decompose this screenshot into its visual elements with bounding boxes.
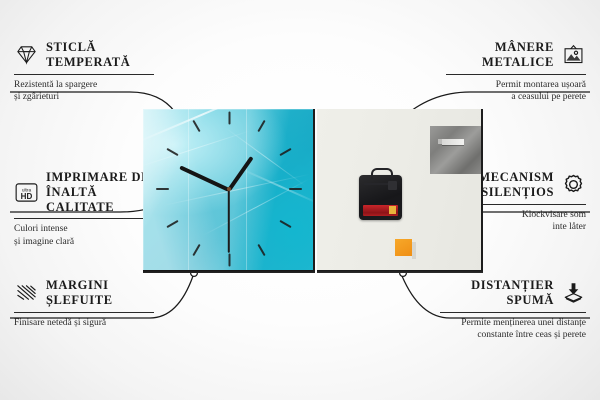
hour-tick: [166, 148, 178, 156]
divider: [14, 74, 154, 75]
clock-front-panel: [143, 109, 315, 271]
feature-subtitle-line2: și zgârieturi: [14, 91, 154, 104]
feature-title-line2: ȘLEFUITE: [46, 293, 113, 308]
hour-tick: [289, 188, 302, 190]
hour-tick: [229, 112, 231, 125]
hour-tick: [279, 220, 291, 228]
feature-header: ultra HD IMPRIMARE DE ÎNALTĂ CALITATE: [14, 170, 164, 214]
feature-subtitle: Rezistentă la spargere și zgârieturi: [14, 79, 154, 104]
feature-subtitle-line1: Finisare netedă și sigură: [14, 317, 154, 330]
feature-subtitle-line2: și imagine clară: [14, 236, 164, 249]
feature-title: STICLĂ TEMPERATĂ: [46, 40, 130, 70]
back-panel-edge: [481, 109, 483, 271]
divider: [446, 74, 586, 75]
foam-spacer-icon: [561, 281, 586, 304]
battery-terminal: [389, 206, 396, 214]
infographic-canvas: STICLĂ TEMPERATĂ Rezistentă la spargere …: [0, 0, 600, 400]
feature-subtitle: Finisare netedă și sigură: [14, 317, 154, 330]
feature-subtitle-line2: a ceasului pe perete: [446, 91, 586, 104]
metal-hanger-plate: [430, 126, 481, 174]
feature-title: DISTANȚIER SPUMĂ: [471, 278, 554, 308]
battery: [363, 205, 398, 216]
feature-header: STICLĂ TEMPERATĂ: [14, 40, 154, 70]
feature-subtitle-line1: Permite menținerea unei distanțe: [440, 317, 586, 330]
foam-spacer-part: [395, 239, 412, 256]
feature-subtitle-line1: Klockvisare som: [466, 209, 586, 222]
mechanism-loop: [371, 168, 393, 179]
feature-subtitle: Klockvisare som inte låter: [466, 209, 586, 234]
hour-hand: [227, 156, 253, 191]
product-photo: [143, 109, 483, 271]
feature-title-line1: MÂNERE: [482, 40, 554, 55]
feature-title: MÂNERE METALICE: [482, 40, 554, 70]
feature-tempered-glass: STICLĂ TEMPERATĂ Rezistentă la spargere …: [14, 40, 154, 104]
feature-title: MARGINI ȘLEFUITE: [46, 278, 113, 308]
feature-title-line1: STICLĂ: [46, 40, 130, 55]
feature-title-line1: MECANISM: [478, 170, 554, 185]
minute-hand: [179, 165, 230, 191]
clock-pivot: [227, 187, 231, 191]
feature-title-line2: SILENȚIOS: [478, 185, 554, 200]
feature-polished-edges: MARGINI ȘLEFUITE Finisare netedă și sigu…: [14, 278, 154, 329]
hanger-slot: [442, 139, 464, 145]
feature-subtitle-line1: Permit montarea ușoară: [446, 79, 586, 92]
picture-hanger-icon: [561, 43, 586, 66]
feature-subtitle: Culori intense și imagine clară: [14, 223, 164, 248]
feature-high-quality-print: ultra HD IMPRIMARE DE ÎNALTĂ CALITATE Cu…: [14, 170, 164, 248]
gear-icon: [561, 173, 586, 196]
feature-title-line2: SPUMĂ: [471, 293, 554, 308]
foam-spacer-side: [412, 242, 416, 259]
feature-foam-spacer: DISTANȚIER SPUMĂ Permite menținerea unei…: [440, 278, 586, 342]
divider: [14, 312, 154, 313]
feature-header: DISTANȚIER SPUMĂ: [440, 278, 586, 308]
front-panel-edge: [313, 109, 315, 271]
second-hand: [228, 190, 230, 253]
back-panel-shadow: [317, 270, 483, 273]
feature-subtitle-line1: Culori intense: [14, 223, 164, 236]
feature-subtitle: Permit montarea ușoară a ceasului pe per…: [446, 79, 586, 104]
feature-subtitle-line2: constante între ceas și perete: [440, 329, 586, 342]
svg-text:HD: HD: [21, 191, 33, 200]
feature-metal-hangers: MÂNERE METALICE Permit montarea ușoară a…: [446, 40, 586, 104]
feature-subtitle: Permite menținerea unei distanțe constan…: [440, 317, 586, 342]
front-panel-shadow: [143, 270, 315, 273]
mechanism-ridge: [364, 183, 388, 185]
feature-subtitle-line1: Rezistentă la spargere: [14, 79, 154, 92]
clock-back-panel: [317, 109, 483, 271]
feature-header: MECANISM SILENȚIOS: [466, 170, 586, 200]
hour-tick: [257, 120, 265, 132]
hour-tick: [257, 244, 265, 256]
hour-tick: [166, 220, 178, 228]
feature-title-line2: TEMPERATĂ: [46, 55, 130, 70]
feature-header: MARGINI ȘLEFUITE: [14, 278, 154, 308]
feature-title: MECANISM SILENȚIOS: [478, 170, 554, 200]
clock-face: [143, 109, 315, 271]
hour-tick: [192, 120, 200, 132]
divider: [440, 312, 586, 313]
divider: [14, 218, 164, 219]
feature-subtitle-line2: inte låter: [466, 221, 586, 234]
feature-silent-mechanism: MECANISM SILENȚIOS Klockvisare som inte …: [466, 170, 586, 234]
ultra-hd-icon: ultra HD: [14, 181, 39, 204]
polished-edges-icon: [14, 281, 39, 304]
feature-title-line1: MARGINI: [46, 278, 113, 293]
diamond-icon: [14, 43, 39, 66]
feature-header: MÂNERE METALICE: [446, 40, 586, 70]
feature-title-line2: METALICE: [482, 55, 554, 70]
divider: [466, 204, 586, 205]
mechanism-notch: [388, 181, 397, 190]
clock-mechanism: [359, 175, 402, 220]
hour-tick: [192, 244, 200, 256]
hour-tick: [156, 188, 169, 190]
hour-tick: [279, 148, 291, 156]
hour-tick: [229, 254, 231, 267]
feature-title-line1: DISTANȚIER: [471, 278, 554, 293]
